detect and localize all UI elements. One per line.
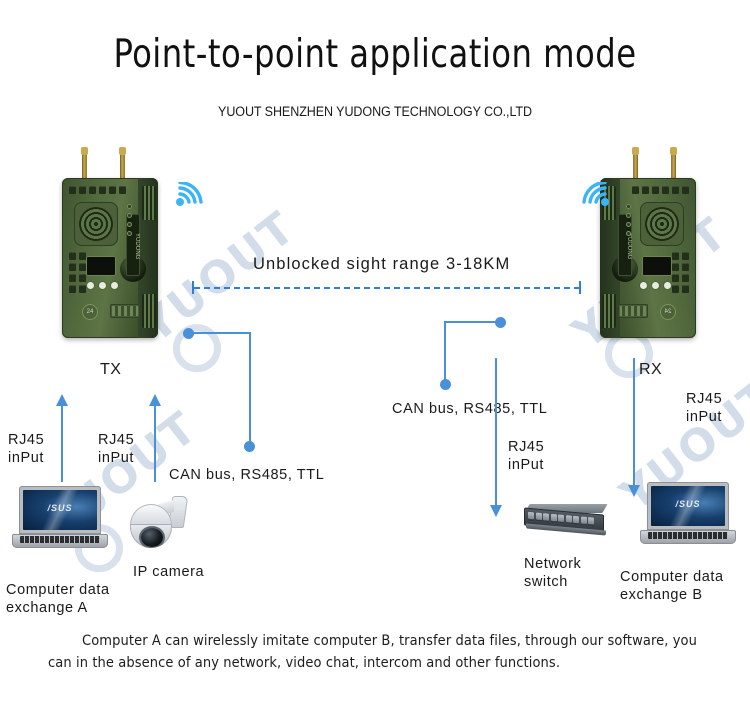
- page-title: Point-to-point application mode: [30, 32, 720, 77]
- camera-caption: IP camera: [133, 563, 204, 581]
- laptop-b-caption: Computer data exchange B: [620, 568, 724, 604]
- range-cap-right: [579, 281, 581, 294]
- tx-bus-line-v: [249, 332, 251, 446]
- camera-dome-bottom: [130, 524, 172, 548]
- heatsink-fins: [142, 294, 156, 328]
- watermark-ring-icon: [163, 314, 230, 381]
- laptop-lid: /SUS: [19, 486, 101, 534]
- rx-bus-line-v: [444, 321, 446, 383]
- tx-label: TX: [100, 361, 121, 379]
- port-panel: [618, 304, 648, 318]
- laptop-base: [640, 530, 736, 544]
- asus-logo: /SUS: [47, 503, 72, 513]
- switch-caption: Network switch: [524, 555, 581, 591]
- laptop-screen: /SUS: [651, 486, 725, 526]
- network-switch: [524, 502, 608, 536]
- rj45-arrow-d-head-icon: [628, 485, 640, 497]
- rx-bus-label: CAN bus, RS485, TTL: [392, 400, 547, 418]
- laptop-keyboard: [648, 532, 728, 539]
- rj45-label-d: RJ45 inPut: [686, 390, 722, 426]
- rj45-label-a: RJ45 inPut: [8, 431, 44, 467]
- tx-bus-dot-label: [244, 441, 255, 452]
- status-leds: [127, 204, 132, 236]
- tx-bus-label: CAN bus, RS485, TTL: [169, 466, 324, 484]
- asus-logo: /SUS: [675, 499, 700, 509]
- laptop-lid: /SUS: [647, 482, 729, 530]
- rj45-arrow-c-head-icon: [490, 505, 502, 517]
- rx-wifi-icon: [578, 182, 612, 216]
- rating-badge: 24: [660, 304, 676, 320]
- rx-bus-dot-label: [440, 379, 451, 390]
- heatsink-fins: [602, 294, 616, 328]
- company-subtitle: YUOUT SHENZHEN YUDONG TECHNOLOGY CO.,LTD: [26, 104, 724, 119]
- tx-wifi-icon: [173, 182, 207, 216]
- laptop-a: /SUS: [12, 486, 108, 548]
- rj45-arrow-b-shaft: [154, 404, 156, 482]
- rj45-label-b: RJ45 inPut: [98, 431, 134, 467]
- laptop-screen: /SUS: [23, 490, 97, 530]
- laptop-a-caption: Computer data exchange A: [6, 581, 110, 617]
- rj45-label-c: RJ45 inPut: [508, 438, 544, 474]
- laptop-keyboard: [20, 536, 100, 543]
- diagram-canvas: Point-to-point application mode YUOUT SH…: [0, 0, 750, 724]
- fan-grille: [74, 202, 118, 246]
- tx-bus-line-h: [192, 332, 251, 334]
- rj45-arrow-d-shaft: [633, 358, 635, 486]
- port-panel: [110, 304, 140, 318]
- fan-grille: [640, 202, 684, 246]
- oled-display: [642, 256, 672, 276]
- camera-lens-icon: [141, 528, 163, 547]
- rating-badge: 24: [82, 304, 98, 320]
- vent-holes: [672, 252, 689, 293]
- oled-display: [86, 256, 116, 276]
- rj45-arrow-a-shaft: [61, 404, 63, 482]
- rj45-arrow-c-shaft: [495, 358, 497, 506]
- range-label: Unblocked sight range 3-18KM: [253, 255, 510, 274]
- vent-holes: [632, 186, 689, 194]
- rx-radio-device: 24 YUDONG: [600, 178, 696, 338]
- footer-paragraph: Computer A can wirelessly imitate comput…: [48, 630, 720, 674]
- laptop-b: /SUS: [640, 482, 736, 544]
- status-leds: [626, 204, 631, 236]
- tx-radio-device: 24 YUDONG: [62, 178, 158, 338]
- vent-holes: [69, 186, 126, 194]
- heatsink-fins: [142, 186, 156, 220]
- rx-bus-line-h: [444, 321, 500, 323]
- range-dashed-line: [194, 287, 580, 289]
- rx-label: RX: [639, 361, 662, 379]
- button-row[interactable]: [640, 282, 671, 289]
- vent-holes: [69, 252, 86, 293]
- laptop-base: [12, 534, 108, 548]
- button-row[interactable]: [87, 282, 118, 289]
- ip-camera: [126, 492, 188, 554]
